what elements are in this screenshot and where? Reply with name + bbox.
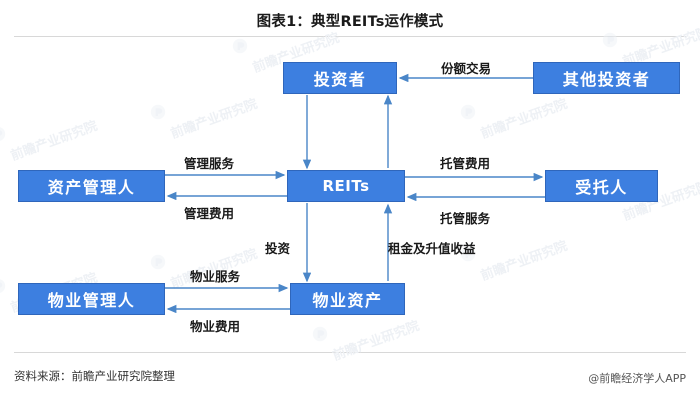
- edge-label-management-fee: 管理费用: [184, 203, 234, 222]
- edge-label-custody-fee: 托管费用: [440, 153, 490, 172]
- node-label: 物业管理人: [48, 287, 136, 311]
- watermark-text: 前瞻产业研究院: [477, 235, 569, 284]
- node-label: 物业资产: [312, 287, 382, 311]
- source-note: 资料来源：前瞻产业研究院整理: [14, 368, 175, 384]
- watermark-logo-icon: [312, 326, 328, 346]
- node-property_asset[interactable]: 物业资产: [290, 283, 405, 315]
- edge-label-management-service: 管理服务: [184, 153, 234, 172]
- node-label: 投资者: [314, 66, 367, 90]
- chart-canvas: 前瞻产业研究院前瞻产业研究院前瞻产业研究院前瞻产业研究院前瞻产业研究院前瞻产业研…: [0, 0, 700, 402]
- node-label: 其他投资者: [563, 66, 651, 90]
- node-asset_manager[interactable]: 资产管理人: [18, 170, 165, 202]
- watermark-logo-icon: [0, 278, 6, 298]
- watermark-text: 前瞻产业研究院: [329, 315, 421, 364]
- edge-label-property-service: 物业服务: [190, 266, 240, 285]
- watermark-logo-icon: [602, 32, 618, 52]
- node-label: REITs: [322, 177, 369, 195]
- watermark-logo-icon: [150, 104, 166, 124]
- node-trustee[interactable]: 受托人: [545, 170, 658, 202]
- chart-title: 图表1：典型REITs运作模式: [0, 10, 700, 31]
- edge-label-investment: 投资: [265, 238, 290, 257]
- node-label: 资产管理人: [48, 174, 136, 198]
- node-investor[interactable]: 投资者: [283, 62, 397, 94]
- edge-label-share-trade: 份额交易: [441, 58, 491, 77]
- edge-label-property-fee: 物业费用: [190, 316, 240, 335]
- watermark-logo-icon: [150, 254, 166, 274]
- watermark-logo-icon: [460, 104, 476, 124]
- edge-label-rent-appreciation: 租金及升值收益: [388, 238, 476, 257]
- watermark-logo-icon: [232, 38, 248, 58]
- node-label: 受托人: [575, 174, 628, 198]
- watermark-text: 前瞻产业研究院: [477, 93, 569, 142]
- node-other_investor[interactable]: 其他投资者: [533, 62, 680, 94]
- watermark-logo-icon: [0, 126, 6, 146]
- edge-label-custody-service: 托管服务: [440, 208, 490, 227]
- divider-top: [14, 36, 686, 37]
- watermark-text: 前瞻产业研究院: [7, 115, 99, 164]
- node-reits[interactable]: REITs: [287, 170, 405, 202]
- node-property_manager[interactable]: 物业管理人: [18, 283, 165, 315]
- watermark-text: 前瞻产业研究院: [167, 93, 259, 142]
- attribution: @前瞻经济学人APP: [588, 370, 686, 386]
